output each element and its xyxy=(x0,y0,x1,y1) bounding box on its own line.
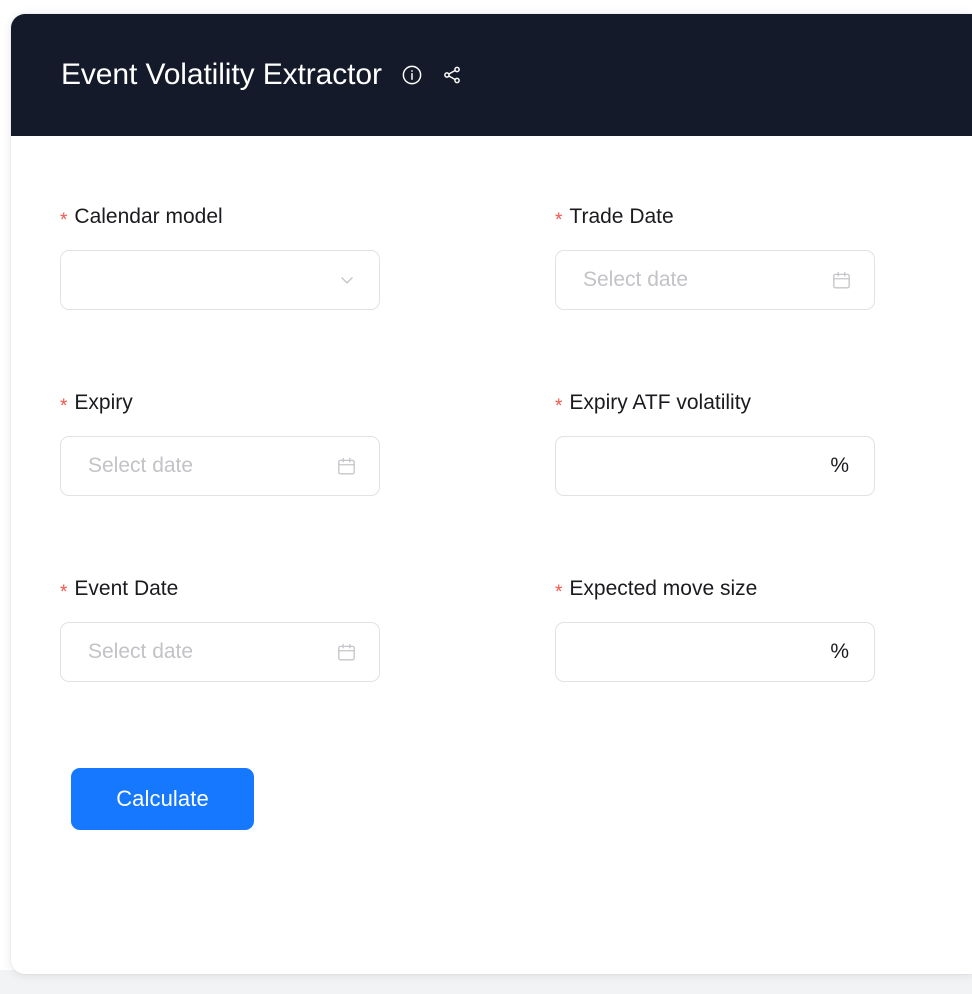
app-card: Event Volatility Extractor xyxy=(11,14,972,974)
expiry-atf-volatility-input[interactable]: % xyxy=(555,436,875,496)
percent-suffix: % xyxy=(830,640,874,664)
field-expected-move-size: * Expected move size % xyxy=(555,576,875,682)
trade-date-placeholder: Select date xyxy=(556,268,688,292)
label-calendar-model: * Calendar model xyxy=(60,204,380,230)
grid-gap xyxy=(380,390,555,576)
required-marker: * xyxy=(555,211,562,230)
grid-gap xyxy=(380,204,555,390)
expiry-input[interactable]: Select date xyxy=(60,436,380,496)
label-text: Trade Date xyxy=(569,204,673,230)
percent-suffix: % xyxy=(830,454,874,478)
calendar-icon[interactable] xyxy=(336,642,379,663)
info-circle-icon[interactable] xyxy=(400,63,424,87)
chevron-down-icon[interactable] xyxy=(337,270,379,290)
share-icon[interactable] xyxy=(440,63,464,87)
calendar-icon[interactable] xyxy=(831,270,874,291)
label-text: Expected move size xyxy=(569,576,757,602)
calendar-model-select[interactable] xyxy=(60,250,380,310)
field-expiry: * Expiry Select date xyxy=(60,390,380,496)
label-text: Expiry xyxy=(74,390,132,416)
label-text: Expiry ATF volatility xyxy=(569,390,751,416)
event-date-input[interactable]: Select date xyxy=(60,622,380,682)
required-marker: * xyxy=(60,211,67,230)
expected-move-size-input[interactable]: % xyxy=(555,622,875,682)
input-form: * Calendar model xyxy=(60,204,890,762)
calendar-icon[interactable] xyxy=(336,456,379,477)
field-event-date: * Event Date Select date xyxy=(60,576,380,682)
page-root: Event Volatility Extractor xyxy=(0,0,972,994)
required-marker: * xyxy=(60,583,67,602)
app-body: * Calendar model xyxy=(11,136,972,974)
label-expiry-atf-volatility: * Expiry ATF volatility xyxy=(555,390,875,416)
field-trade-date: * Trade Date Select date xyxy=(555,204,875,310)
required-marker: * xyxy=(60,397,67,416)
label-expiry: * Expiry xyxy=(60,390,380,416)
header-actions xyxy=(400,63,464,87)
app-header: Event Volatility Extractor xyxy=(11,14,972,136)
event-date-placeholder: Select date xyxy=(61,640,193,664)
required-marker: * xyxy=(555,583,562,602)
grid-gap xyxy=(380,576,555,762)
page-title: Event Volatility Extractor xyxy=(61,58,382,92)
field-expiry-atf-volatility: * Expiry ATF volatility % xyxy=(555,390,875,496)
label-text: Calendar model xyxy=(74,204,222,230)
label-trade-date: * Trade Date xyxy=(555,204,875,230)
label-event-date: * Event Date xyxy=(60,576,380,602)
calculate-button[interactable]: Calculate xyxy=(71,768,254,830)
trade-date-input[interactable]: Select date xyxy=(555,250,875,310)
label-expected-move-size: * Expected move size xyxy=(555,576,875,602)
required-marker: * xyxy=(555,397,562,416)
label-text: Event Date xyxy=(74,576,178,602)
field-calendar-model: * Calendar model xyxy=(60,204,380,310)
expiry-placeholder: Select date xyxy=(61,454,193,478)
